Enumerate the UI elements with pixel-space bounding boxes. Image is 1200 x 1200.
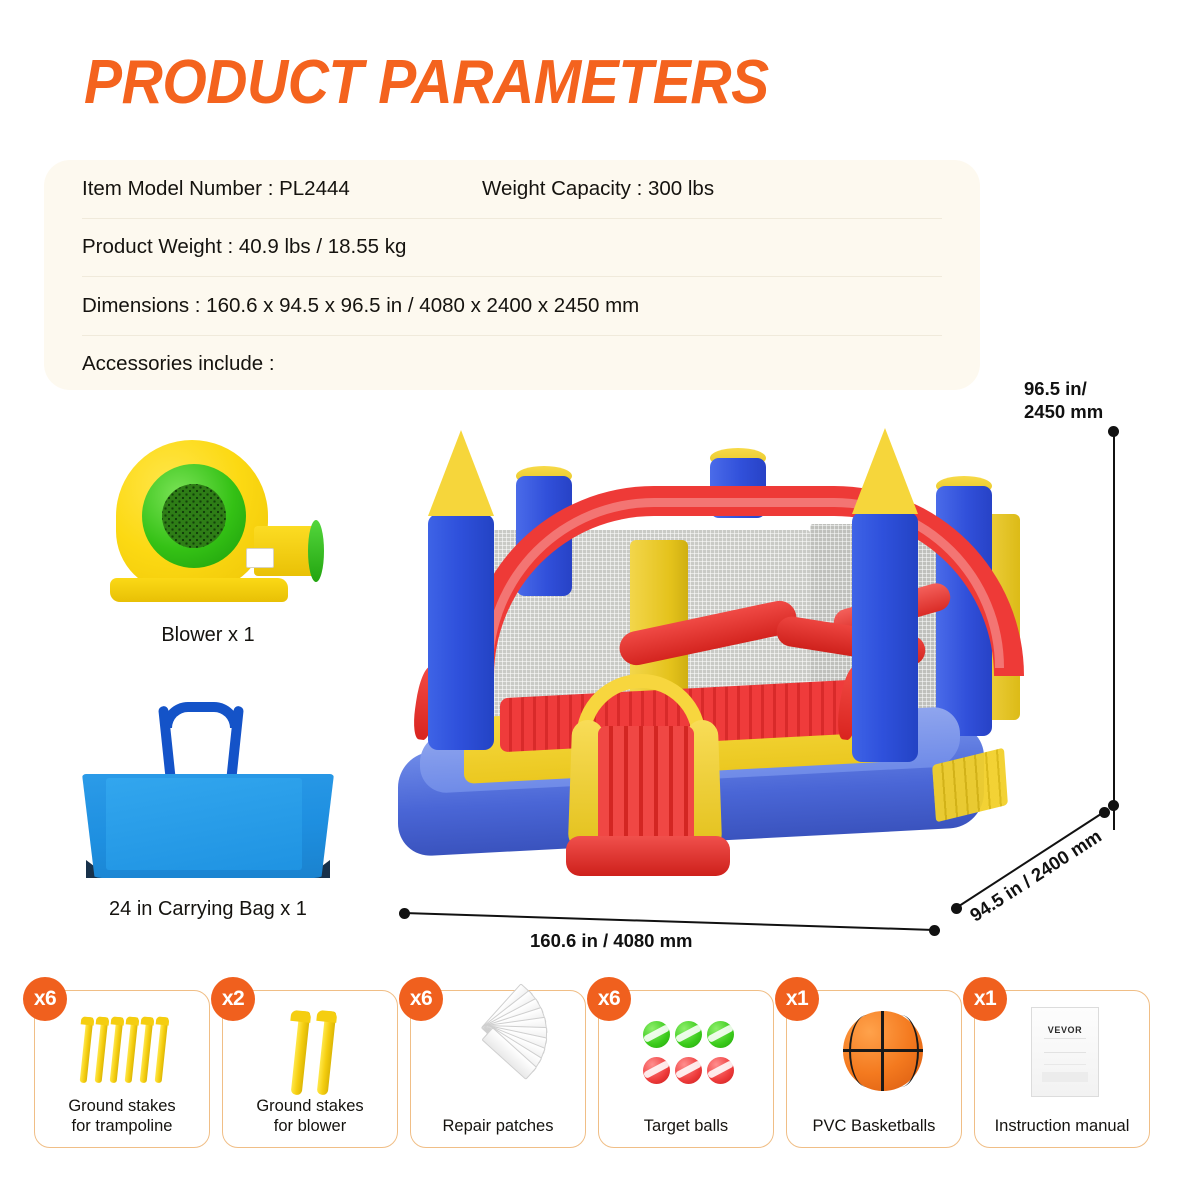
dimension-width-dot-right bbox=[929, 925, 940, 936]
accessory-card-target-balls[interactable]: x6 Target balls bbox=[598, 990, 774, 1148]
accessory-card-ground-stakes-trampoline[interactable]: x6 Ground stakes for trampoline bbox=[34, 990, 210, 1148]
accessory-caption: Instruction manual bbox=[995, 1116, 1130, 1137]
page-title: PRODUCT PARAMETERS bbox=[84, 50, 769, 115]
accessory-caption: PVC Basketballs bbox=[813, 1116, 936, 1137]
accessory-caption-line1: Ground stakes bbox=[256, 1097, 363, 1115]
target-balls-icon bbox=[599, 1005, 773, 1097]
dimension-height-dot-bottom bbox=[1108, 800, 1119, 811]
dimension-depth-dot-right bbox=[1099, 807, 1110, 818]
basketball-icon bbox=[787, 1005, 961, 1097]
accessory-card-ground-stakes-blower[interactable]: x2 Ground stakes for blower bbox=[222, 990, 398, 1148]
accessory-caption-line1: PVC Basketballs bbox=[813, 1117, 936, 1135]
spec-model-number: Item Model Number : PL2444 bbox=[82, 177, 482, 201]
accessory-card-instruction-manual[interactable]: x1 VEVOR Instruction manual bbox=[974, 990, 1150, 1148]
dimension-height-line bbox=[1113, 430, 1115, 830]
accessory-caption-line1: Instruction manual bbox=[995, 1117, 1130, 1135]
stakes-six-icon bbox=[35, 1005, 209, 1097]
spec-row: Product Weight : 40.9 lbs / 18.55 kg bbox=[82, 219, 942, 278]
accessory-caption-line2: for trampoline bbox=[72, 1117, 173, 1135]
accessory-caption: Target balls bbox=[644, 1116, 728, 1137]
spec-accessories-heading: Accessories include : bbox=[82, 352, 275, 376]
blower-item: Blower x 1 bbox=[58, 436, 358, 647]
spec-row: Dimensions : 160.6 x 94.5 x 96.5 in / 40… bbox=[82, 277, 942, 336]
dimension-width-label: 160.6 in / 4080 mm bbox=[530, 930, 693, 953]
spec-row: Item Model Number : PL2444 Weight Capaci… bbox=[82, 160, 942, 219]
accessory-card-repair-patches[interactable]: x6 Repair patches bbox=[410, 990, 586, 1148]
accessory-card-pvc-basketballs[interactable]: x1 PVC Basketballs bbox=[786, 990, 962, 1148]
dimension-height-label: 96.5 in/ 2450 mm bbox=[1024, 378, 1103, 423]
dimension-height-dot-top bbox=[1108, 426, 1119, 437]
patches-icon bbox=[411, 1005, 585, 1097]
accessories-row: x6 Ground stakes for trampoline x2 Groun… bbox=[34, 990, 1170, 1148]
dimension-depth-dot-left bbox=[951, 903, 962, 914]
bounce-house-illustration bbox=[380, 420, 1020, 920]
carrying-bag-item: 24 in Carrying Bag x 1 bbox=[58, 700, 358, 921]
blower-icon bbox=[58, 436, 358, 616]
blower-caption: Blower x 1 bbox=[58, 624, 358, 647]
manual-brand: VEVOR bbox=[1032, 1025, 1098, 1035]
spec-panel: Item Model Number : PL2444 Weight Capaci… bbox=[44, 160, 980, 390]
dimension-width-dot-left bbox=[399, 908, 410, 919]
accessory-caption-line1: Target balls bbox=[644, 1117, 728, 1135]
accessory-caption-line1: Repair patches bbox=[443, 1117, 554, 1135]
spec-product-weight: Product Weight : 40.9 lbs / 18.55 kg bbox=[82, 235, 406, 259]
stakes-two-icon bbox=[223, 1005, 397, 1097]
accessory-caption: Repair patches bbox=[443, 1116, 554, 1137]
accessory-caption-line2: for blower bbox=[274, 1117, 346, 1135]
spec-weight-capacity: Weight Capacity : 300 lbs bbox=[482, 177, 714, 201]
accessory-caption: Ground stakes for trampoline bbox=[68, 1096, 175, 1137]
dimension-height-line2: 2450 mm bbox=[1024, 401, 1103, 422]
accessory-caption-line1: Ground stakes bbox=[68, 1097, 175, 1115]
spec-row: Accessories include : bbox=[82, 336, 942, 394]
carrying-bag-icon bbox=[58, 700, 358, 890]
dimension-height-line1: 96.5 in/ bbox=[1024, 378, 1087, 399]
carrying-bag-caption: 24 in Carrying Bag x 1 bbox=[58, 898, 358, 921]
manual-icon: VEVOR bbox=[975, 1005, 1149, 1097]
spec-dimensions: Dimensions : 160.6 x 94.5 x 96.5 in / 40… bbox=[82, 294, 639, 318]
accessory-caption: Ground stakes for blower bbox=[256, 1096, 363, 1137]
